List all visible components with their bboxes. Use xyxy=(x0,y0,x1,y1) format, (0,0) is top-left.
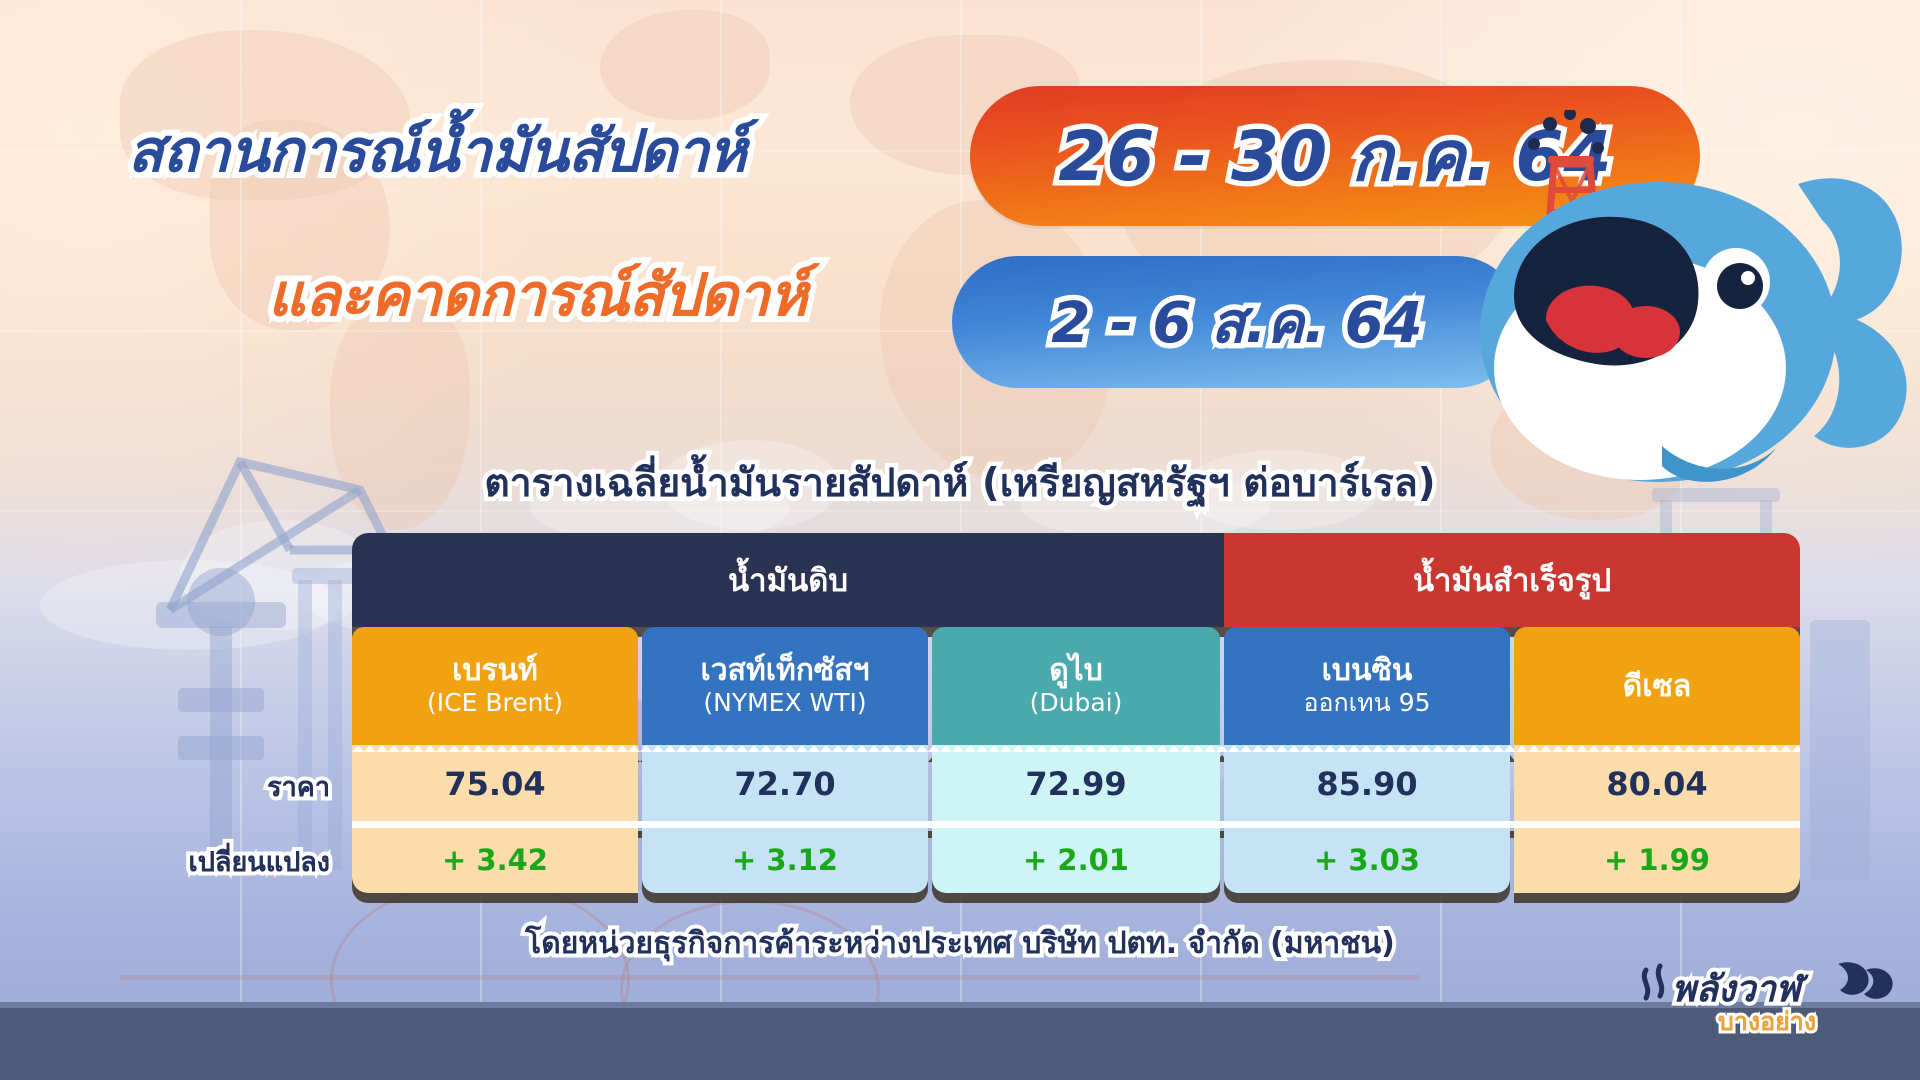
price-cell-brent: 75.04 xyxy=(352,745,638,823)
whale-spout xyxy=(1528,110,1604,154)
price-cell-wti: 72.70 xyxy=(642,745,928,823)
change-cell-dubai: + 2.01 xyxy=(932,827,1220,893)
group-header-refined: น้ำมันสำเร็จรูป xyxy=(1224,533,1800,627)
column-header-dubai: ดูไบ (Dubai) xyxy=(932,627,1220,745)
column-header-brent-name: เบรนท์ xyxy=(452,654,538,687)
zigzag-divider xyxy=(352,745,1800,752)
footer-credit: โดยหน่วยธุรกิจการค้าระหว่างประเทศ บริษัท… xyxy=(0,920,1920,967)
price-value-dubai: 72.99 xyxy=(1025,765,1126,803)
column-header-dubai-sub: (Dubai) xyxy=(1030,687,1123,718)
column-header-wti: เวสท์เท็กซัสฯ (NYMEX WTI) xyxy=(642,627,928,745)
change-cell-brent: + 3.42 xyxy=(352,827,638,893)
oil-price-table: น้ำมันดิบ น้ำมันสำเร็จรูป เบรนท์ (ICE Br… xyxy=(352,533,1800,893)
price-value-benzin: 85.90 xyxy=(1316,765,1417,803)
column-header-diesel: ดีเซล xyxy=(1514,627,1800,745)
column-header-wti-name: เวสท์เท็กซัสฯ xyxy=(701,654,870,687)
date-badge-forecast-label: 2 - 6 ส.ค. 64 xyxy=(1051,278,1422,367)
brand-whale-tail-icon xyxy=(1838,962,1893,999)
title-line-2: และคาดการณ์สัปดาห์ xyxy=(268,248,807,341)
table-row-change: + 3.42 + 3.12 + 2.01 + 3.03 + 1.99 xyxy=(352,827,1800,893)
row-label-price: ราคา xyxy=(180,765,330,808)
group-header-crude-label: น้ำมันดิบ xyxy=(728,555,848,605)
column-header-wti-sub: (NYMEX WTI) xyxy=(703,687,866,718)
title-line-1: สถานการณ์น้ำมันสัปดาห์ xyxy=(128,104,746,197)
price-cell-dubai: 72.99 xyxy=(932,745,1220,823)
brand-tagline: บางอย่าง xyxy=(1718,1002,1816,1042)
change-cell-benzin: + 3.03 xyxy=(1224,827,1510,893)
group-header-crude: น้ำมันดิบ xyxy=(352,533,1224,627)
whale-eye-glint xyxy=(1741,271,1755,285)
column-header-benzin-sub: ออกเทน 95 xyxy=(1303,687,1430,718)
column-header-diesel-name: ดีเซล xyxy=(1623,670,1691,703)
row-label-change: เปลี่ยนแปลง xyxy=(120,840,330,883)
change-value-benzin: + 3.03 xyxy=(1314,843,1420,877)
column-header-dubai-name: ดูไบ xyxy=(1049,654,1103,687)
group-header-refined-label: น้ำมันสำเร็จรูป xyxy=(1413,555,1611,605)
change-value-brent: + 3.42 xyxy=(442,843,548,877)
table-caption-label: ตารางเฉลี่ยน้ำมันรายสัปดาห์ (เหรียญสหรัฐ… xyxy=(484,452,1435,514)
change-cell-wti: + 3.12 xyxy=(642,827,928,893)
whale-pupil xyxy=(1717,263,1763,309)
table-caption: ตารางเฉลี่ยน้ำมันรายสัปดาห์ (เหรียญสหรัฐ… xyxy=(0,452,1920,514)
column-header-benzin-name: เบนซิน xyxy=(1322,654,1413,687)
row-separator xyxy=(352,821,1800,828)
price-value-diesel: 80.04 xyxy=(1606,765,1707,803)
price-cell-benzin: 85.90 xyxy=(1224,745,1510,823)
change-value-dubai: + 2.01 xyxy=(1023,843,1129,877)
change-value-diesel: + 1.99 xyxy=(1604,843,1710,877)
whale-tongue-2 xyxy=(1612,306,1680,358)
change-value-wti: + 3.12 xyxy=(732,843,838,877)
brand-sparkle-left-icon xyxy=(1644,966,1661,998)
table-row-price: 75.04 72.70 72.99 85.90 80.04 xyxy=(352,745,1800,823)
price-value-brent: 75.04 xyxy=(444,765,545,803)
change-cell-diesel: + 1.99 xyxy=(1514,827,1800,893)
price-cell-diesel: 80.04 xyxy=(1514,745,1800,823)
column-header-benzin: เบนซิน ออกเทน 95 xyxy=(1224,627,1510,745)
pipeline-bar xyxy=(120,975,1420,980)
footer-credit-label: โดยหน่วยธุรกิจการค้าระหว่างประเทศ บริษัท… xyxy=(525,920,1395,967)
price-value-wti: 72.70 xyxy=(734,765,835,803)
column-header-brent: เบรนท์ (ICE Brent) xyxy=(352,627,638,745)
brand-logo: พลังวาฬ พลังวาฬ บางอย่าง บางอย่าง xyxy=(1630,962,1900,1062)
column-header-brent-sub: (ICE Brent) xyxy=(427,687,563,718)
